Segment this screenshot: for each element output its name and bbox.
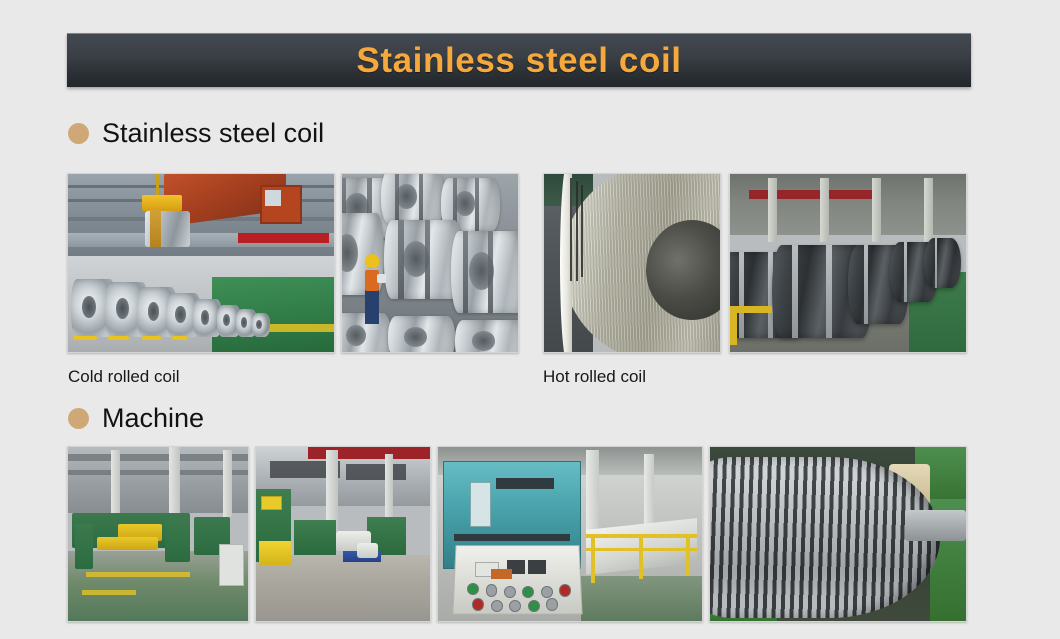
photo-machine-mill-panel[interactable] (437, 446, 703, 622)
photo-scene (68, 174, 334, 352)
caption-hot-rolled-coil: Hot rolled coil (543, 368, 646, 385)
photo-scene (342, 174, 518, 352)
page-title: Stainless steel coil (356, 43, 681, 78)
section-title-text: Stainless steel coil (102, 120, 324, 147)
photo-scene (544, 174, 720, 352)
photo-machine-slitting-line[interactable] (709, 446, 967, 622)
page-title-banner: Stainless steel coil (67, 33, 971, 87)
photo-dark-coils-row[interactable] (729, 173, 967, 353)
product-showcase-page: Stainless steel coil Stainless steel coi… (0, 0, 1060, 639)
photo-scene (710, 447, 966, 621)
photo-coil-warehouse-crane[interactable] (67, 173, 335, 353)
bullet-icon (68, 123, 89, 144)
section-title-text: Machine (102, 405, 204, 432)
photo-scene (730, 174, 966, 352)
photo-machine-green-line[interactable] (67, 446, 249, 622)
caption-cold-rolled-coil: Cold rolled coil (68, 368, 180, 385)
photo-hot-rolled-closeup[interactable] (543, 173, 721, 353)
photo-machine-green-warning[interactable] (255, 446, 431, 622)
section-heading-stainless-steel-coil: Stainless steel coil (68, 120, 324, 147)
photo-scene (256, 447, 430, 621)
photo-scene (68, 447, 248, 621)
photo-scene (438, 447, 702, 621)
section-heading-machine: Machine (68, 405, 204, 432)
photo-coil-stacks-worker[interactable] (341, 173, 519, 353)
bullet-icon (68, 408, 89, 429)
